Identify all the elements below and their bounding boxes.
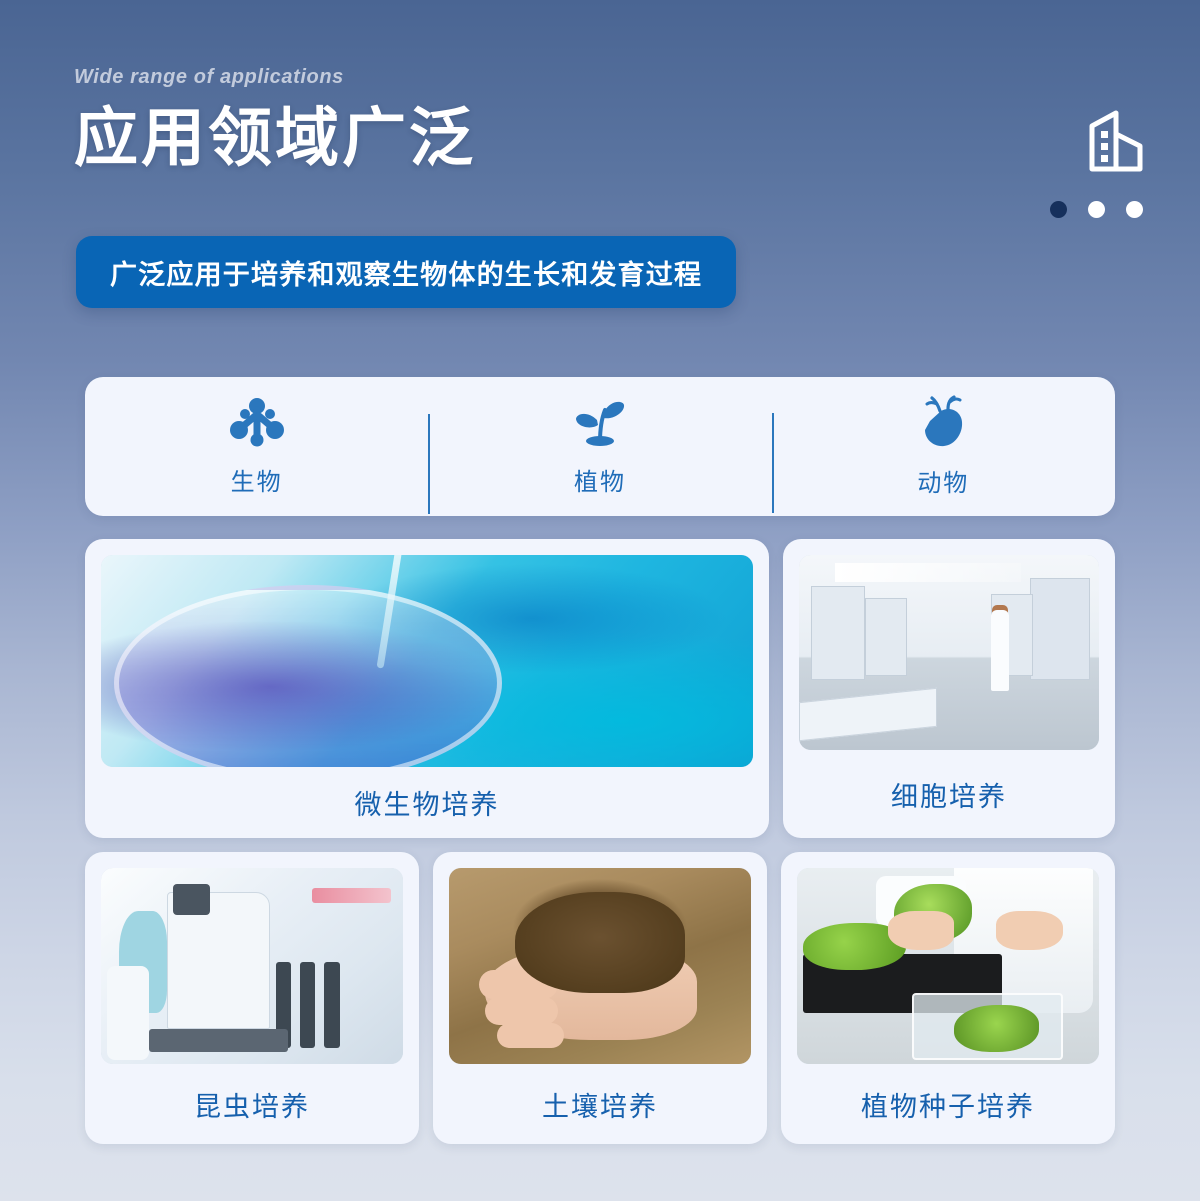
- subtitle-banner: 广泛应用于培养和观察生物体的生长和发育过程: [76, 236, 736, 308]
- card-label-insect: 昆虫培养: [101, 1064, 403, 1144]
- card-soil-culture[interactable]: 土壤培养: [433, 852, 767, 1144]
- category-item-plant[interactable]: 植物: [428, 396, 771, 497]
- card-label-seed: 植物种子培养: [797, 1064, 1099, 1144]
- card-microbial-culture[interactable]: 微生物培养: [85, 539, 769, 838]
- corner-decoration: [1028, 108, 1148, 218]
- card-row-2: 昆虫培养 土壤培养: [85, 852, 1115, 1144]
- category-label-animal: 动物: [917, 463, 969, 498]
- card-label-microbial: 微生物培养: [101, 767, 753, 838]
- card-thumbnail-cell: [799, 555, 1099, 750]
- sprout-icon: [571, 396, 629, 448]
- card-cell-culture[interactable]: 细胞培养: [783, 539, 1115, 838]
- card-plant-seed-culture[interactable]: 植物种子培养: [781, 852, 1115, 1144]
- page-title: 应用领域广泛: [74, 105, 476, 172]
- card-thumbnail-microbial: [101, 555, 753, 767]
- card-thumbnail-soil: [449, 868, 751, 1064]
- card-thumbnail-seed: [797, 868, 1099, 1064]
- category-label-biology: 生物: [231, 462, 283, 497]
- card-label-soil: 土壤培养: [449, 1064, 751, 1144]
- pagination-dot-3[interactable]: [1126, 201, 1143, 218]
- deer-icon: [917, 395, 969, 449]
- card-row-1: 微生物培养 细胞培养: [85, 539, 1115, 838]
- molecule-icon: [229, 396, 285, 448]
- subtitle-banner-text: 广泛应用于培养和观察生物体的生长和发育过程: [110, 253, 702, 292]
- card-thumbnail-insect: [101, 868, 403, 1064]
- card-insect-culture[interactable]: 昆虫培养: [85, 852, 419, 1144]
- application-card-grid: 微生物培养 细胞培养: [85, 539, 1115, 1144]
- pagination-dots[interactable]: [1028, 201, 1148, 218]
- category-bar: 生物 植物 动物: [85, 377, 1115, 516]
- eyebrow-text: Wide range of applications: [74, 66, 476, 89]
- card-label-cell: 细胞培养: [799, 750, 1099, 838]
- pagination-dot-2[interactable]: [1088, 201, 1105, 218]
- category-item-biology[interactable]: 生物: [85, 396, 428, 497]
- building-icon: [1086, 108, 1148, 179]
- pagination-dot-1[interactable]: [1050, 201, 1067, 218]
- category-label-plant: 植物: [574, 462, 626, 497]
- page-header: Wide range of applications 应用领域广泛: [74, 66, 476, 172]
- category-item-animal[interactable]: 动物: [772, 395, 1115, 498]
